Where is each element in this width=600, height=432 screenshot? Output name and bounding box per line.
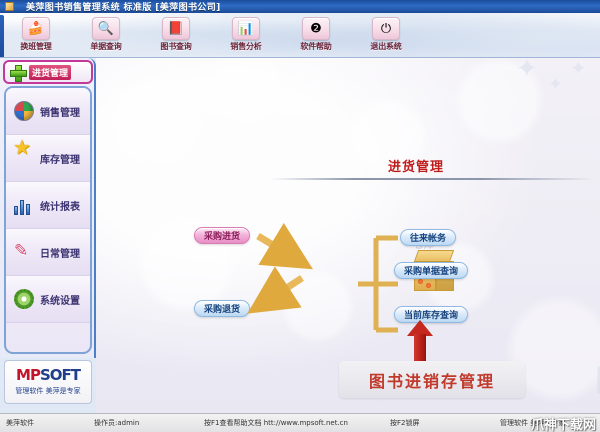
main-content: ✦ ✦ ✦ 进货管理 采购进货 采购退货 仓库	[96, 58, 600, 413]
title-divider-left	[270, 178, 480, 180]
toolbar-button-label: 换班管理	[20, 41, 51, 52]
toolbar-buttons: 🍰 换班管理 🔍 单据查询 📕 图书查询 📊 销售分析 ❷ 软件帮助 ⏻	[12, 17, 410, 52]
page-title: 进货管理	[388, 156, 444, 175]
arrow-out-icon	[254, 276, 316, 314]
gear-icon	[14, 289, 34, 309]
sidebar-item-inventory[interactable]: 库存管理	[6, 135, 90, 182]
toolbar-button-label: 退出系统	[370, 41, 401, 52]
watermark: 爪神下载网	[531, 414, 596, 432]
title-bar: 美萍图书销售管理系统 标准版 [美萍图书公司]	[0, 0, 600, 13]
brand-logo: MPSOFT 管理软件 美萍是专家	[4, 360, 92, 404]
bar-chart-icon	[14, 195, 34, 215]
up-arrow-icon	[407, 320, 433, 366]
shift-icon: 🍰	[22, 17, 50, 40]
node-purchase-in[interactable]: 采购进货	[194, 227, 250, 244]
sidebar-item-sales[interactable]: 销售管理	[6, 88, 90, 135]
sidebar-item-reports[interactable]: 统计报表	[6, 182, 90, 229]
book-icon: 📕	[162, 17, 190, 40]
brush-icon	[14, 242, 34, 262]
star-decoration: ✦	[548, 74, 563, 95]
toolbar-button-label: 销售分析	[230, 41, 261, 52]
sidebar-item-label: 库存管理	[40, 151, 80, 166]
toolbar-button-label: 单据查询	[90, 41, 121, 52]
sidebar-item-label: 销售管理	[40, 104, 80, 119]
sidebar-item-label: 统计报表	[40, 198, 80, 213]
ghost-arrow-decoration	[593, 354, 600, 406]
node-purchase-return[interactable]: 采购退货	[194, 300, 250, 317]
exit-icon: ⏻	[372, 17, 400, 40]
status-bar: 美萍软件 操作员:admin 按F1查看帮助文档 htt://www.mpsof…	[0, 413, 600, 432]
logo-tagline: 管理软件 美萍是专家	[15, 386, 80, 396]
node-label: 采购进货	[204, 229, 240, 242]
magnifier-icon: 🔍	[92, 17, 120, 40]
node-label: 采购单据查询	[404, 264, 458, 277]
sidebar-item-daily[interactable]: 日常管理	[6, 229, 90, 276]
window-title: 美萍图书销售管理系统 标准版 [美萍图书公司]	[26, 0, 221, 13]
node-label: 往来帐务	[410, 231, 446, 244]
toolbar-button-label: 图书查询	[160, 41, 191, 52]
node-accounts[interactable]: 往来帐务	[400, 229, 456, 246]
plus-icon	[10, 65, 25, 80]
sidebar-item-purchase-active[interactable]: 进货管理	[3, 60, 93, 84]
toolbar-button-shift[interactable]: 🍰 换班管理	[12, 17, 60, 52]
toolbar-button-help[interactable]: ❷ 软件帮助	[292, 17, 340, 52]
title-divider-right	[480, 178, 595, 180]
toolbar-left-edge	[0, 15, 4, 58]
node-purchase-doc-query[interactable]: 采购单据查询	[394, 262, 468, 279]
sidebar: 进货管理 销售管理 库存管理 统计报表 日常管理 系统设置	[0, 58, 96, 358]
toolbar-button-sales-analysis[interactable]: 📊 销售分析	[222, 17, 270, 52]
bar-chart-icon: 📊	[232, 17, 260, 40]
toolbar-button-label: 软件帮助	[300, 41, 331, 52]
sidebar-menu: 销售管理 库存管理 统计报表 日常管理 系统设置	[4, 86, 92, 354]
sidebar-item-label: 日常管理	[40, 245, 80, 260]
toolbar-button-book-query[interactable]: 📕 图书查询	[152, 17, 200, 52]
toolbar-button-exit[interactable]: ⏻ 退出系统	[362, 17, 410, 52]
sidebar-item-settings[interactable]: 系统设置	[6, 276, 90, 323]
arrow-in-icon	[256, 234, 316, 268]
application-window: 美萍图书销售管理系统 标准版 [美萍图书公司] 🍰 换班管理 🔍 单据查询 📕 …	[0, 0, 600, 432]
module-banner: 图书进销存管理	[339, 361, 525, 398]
star-decoration: ✦	[516, 58, 538, 84]
star-icon	[14, 148, 34, 168]
logo-wordmark: MPSOFT	[16, 368, 80, 383]
globe-icon	[14, 101, 34, 121]
status-company: 美萍软件	[0, 418, 88, 428]
status-operator: 操作员:admin	[88, 418, 198, 428]
status-help: 按F1查看帮助文档 htt://www.mpsoft.net.cn	[198, 418, 384, 428]
logo-mp: MP	[16, 366, 40, 384]
module-banner-text: 图书进销存管理	[369, 368, 495, 392]
main-toolbar: 🍰 换班管理 🔍 单据查询 📕 图书查询 📊 销售分析 ❷ 软件帮助 ⏻	[0, 13, 600, 58]
star-decoration: ✦	[570, 58, 587, 80]
app-icon	[5, 2, 14, 11]
node-label: 采购退货	[204, 302, 240, 315]
help-icon: ❷	[302, 17, 330, 40]
sidebar-active-label: 进货管理	[29, 65, 71, 80]
logo-soft: SOFT	[40, 366, 80, 384]
status-lock: 按F2锁屏	[384, 418, 494, 428]
sidebar-item-label: 系统设置	[40, 292, 80, 307]
toolbar-button-order-query[interactable]: 🔍 单据查询	[82, 17, 130, 52]
